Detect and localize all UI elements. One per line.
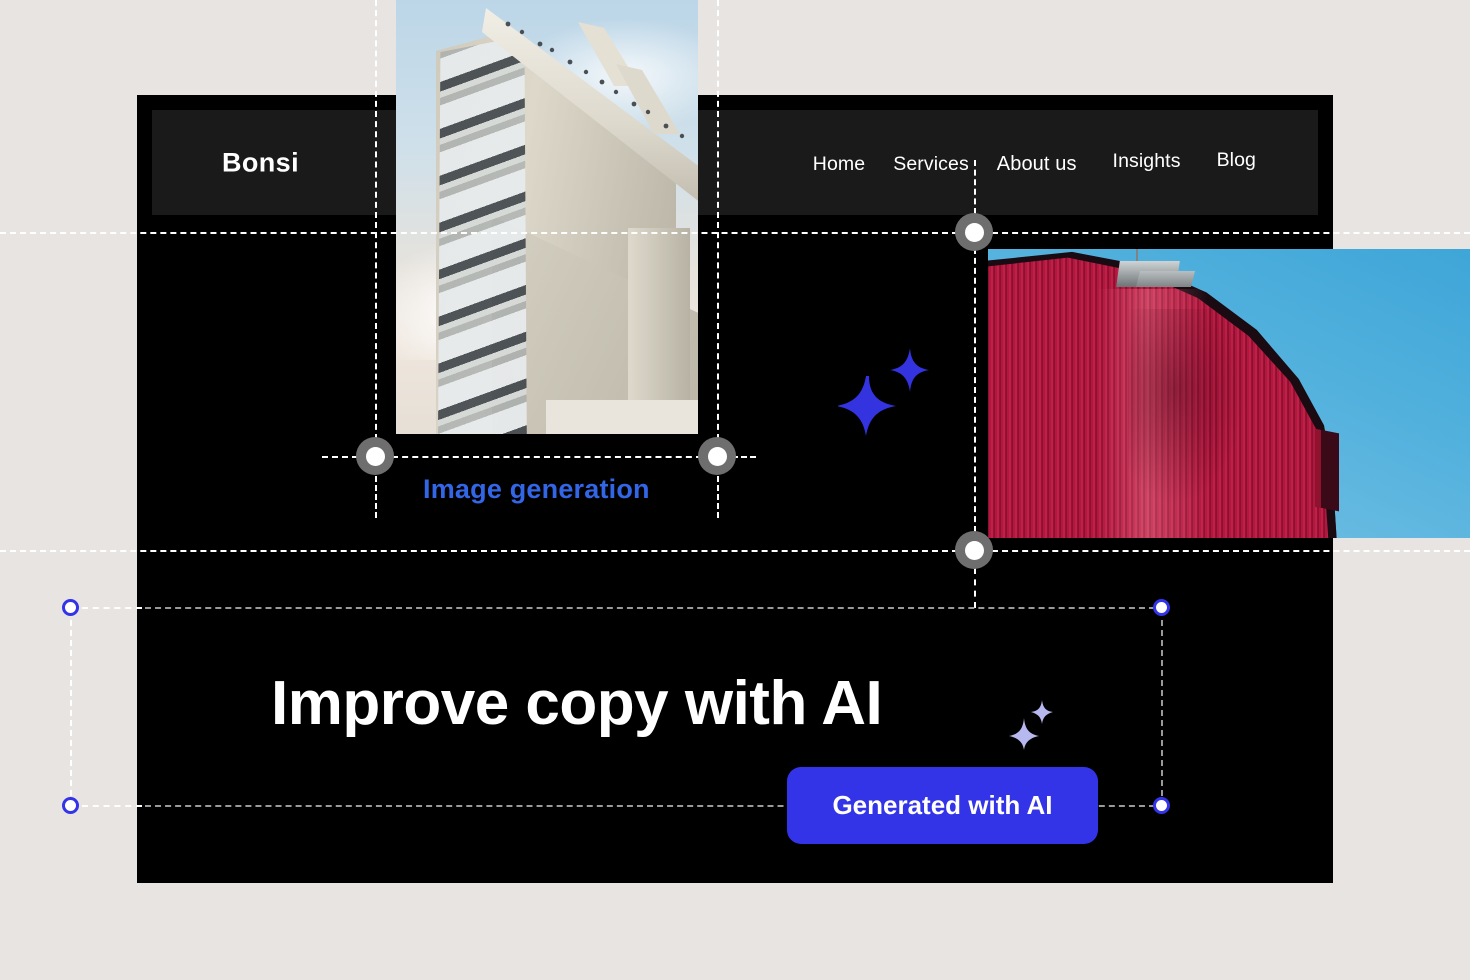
nav-link-insights[interactable]: Insights	[1099, 150, 1195, 173]
guide-line-vertical	[717, 0, 719, 440]
red-building-photo[interactable]	[988, 249, 1470, 538]
text-block-handle-bottom-left[interactable]	[62, 797, 79, 814]
text-block-handle-top-left[interactable]	[62, 599, 79, 616]
nav-links: Home Services About us Insights Blog	[799, 110, 1270, 215]
brand-logo[interactable]: Bonsi	[222, 147, 299, 178]
guide-line-vertical	[70, 620, 72, 796]
guide-line-horizontal	[145, 607, 1155, 609]
site-navbar[interactable]: Bonsi Home Services About us Insights Bl…	[152, 110, 1318, 215]
guide-line-horizontal	[392, 456, 702, 458]
guide-line-horizontal	[992, 232, 1470, 234]
nav-link-blog[interactable]: Blog	[1203, 149, 1270, 172]
sparkle-icon	[838, 340, 930, 438]
rooftop-vent	[1136, 271, 1195, 287]
roof-truss	[396, 0, 698, 316]
text-block-handle-top-right[interactable]	[1153, 599, 1170, 616]
hero-headline: Improve copy with AI	[271, 668, 882, 739]
building-photo[interactable]	[396, 0, 698, 434]
guide-line-vertical	[974, 568, 976, 608]
guide-line-vertical	[375, 0, 377, 440]
guide-line-horizontal	[82, 607, 142, 609]
guide-line-horizontal	[0, 550, 958, 552]
guide-line-vertical	[717, 476, 719, 518]
guide-line-vertical	[974, 160, 976, 214]
guide-line-vertical	[1161, 620, 1163, 796]
guide-line-vertical	[974, 248, 976, 532]
guide-line-vertical	[375, 476, 377, 518]
guide-line-horizontal	[992, 550, 1470, 552]
image-generation-handle-left[interactable]	[356, 437, 394, 475]
guide-line-horizontal	[0, 232, 958, 234]
building-base	[546, 400, 698, 434]
red-photo-handle-top[interactable]	[955, 213, 993, 251]
text-block-handle-bottom-right[interactable]	[1153, 797, 1170, 814]
design-canvas-stage: Bonsi Home Services About us Insights Bl…	[0, 0, 1470, 980]
nav-link-services[interactable]: Services	[879, 153, 983, 176]
facade-window	[1315, 429, 1339, 512]
sparkle-icon	[1008, 698, 1056, 750]
image-generation-label: Image generation	[423, 474, 650, 505]
image-generation-handle-right[interactable]	[698, 437, 736, 475]
generated-with-ai-button[interactable]: Generated with AI	[787, 767, 1098, 844]
nav-link-about-us[interactable]: About us	[983, 153, 1091, 176]
red-photo-handle-bottom[interactable]	[955, 531, 993, 569]
nav-link-home[interactable]: Home	[799, 153, 879, 176]
guide-line-horizontal	[82, 805, 142, 807]
